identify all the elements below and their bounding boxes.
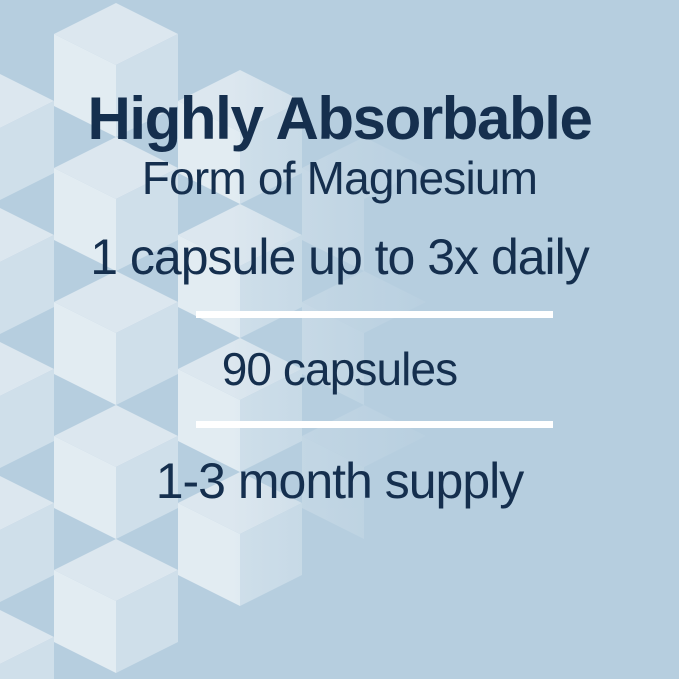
feature-dosage: 1 capsule up to 3x daily: [90, 232, 589, 283]
divider-bottom: [196, 421, 553, 428]
feature-supply-duration: 1-3 month supply: [156, 456, 524, 507]
feature-capsule-count: 90 capsules: [222, 346, 458, 393]
page-subtitle: Form of Magnesium: [142, 155, 537, 202]
product-feature-panel: Highly Absorbable Form of Magnesium 1 ca…: [0, 0, 679, 679]
divider-top: [196, 311, 553, 318]
feature-text-stack: Highly Absorbable Form of Magnesium 1 ca…: [0, 0, 679, 679]
page-title: Highly Absorbable: [87, 88, 591, 149]
